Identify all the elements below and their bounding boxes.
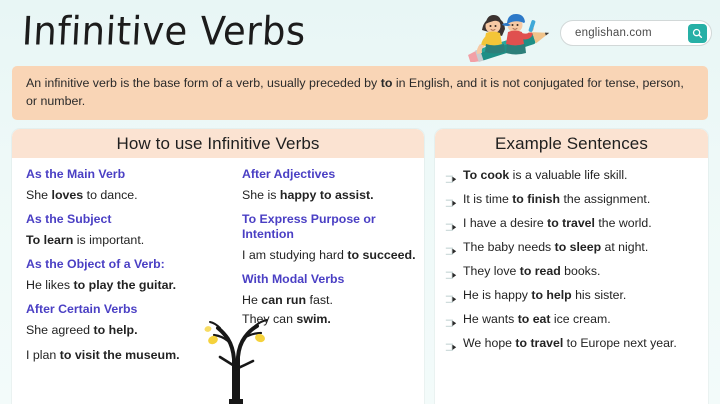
two-kids-riding-pencil-icon	[460, 4, 556, 62]
arrow-bullet-icon	[445, 171, 457, 180]
text-post: his sister.	[572, 288, 627, 302]
panel-how-header-text: How to use Infinitive Verbs	[116, 134, 319, 154]
list-item: I have a desire to travel the world.	[445, 215, 700, 231]
text-pre: He wants	[463, 312, 518, 326]
content-panels: How to use Infinitive Verbs	[12, 129, 708, 404]
example-modal-verbs-2: They can swim.	[242, 311, 424, 327]
how-to-columns: As the Main Verb She loves to dance. As …	[12, 158, 424, 404]
example-subject: To learn is important.	[26, 232, 238, 248]
example-object-of-verb: He likes to play the guitar.	[26, 277, 238, 293]
text-pre: She agreed	[26, 323, 94, 337]
text-bold: to read	[520, 264, 561, 278]
text-pre: They love	[463, 264, 520, 278]
how-column-1: As the Main Verb She loves to dance. As …	[12, 167, 238, 404]
text-bold: to travel	[547, 216, 595, 230]
page-title: Infinitive Verbs	[21, 11, 307, 53]
subheading-modal-verbs: With Modal Verbs	[242, 272, 424, 287]
example-after-adjectives: She is happy to assist.	[242, 187, 424, 203]
text-bold: to eat	[518, 312, 551, 326]
text-pre: The baby needs	[463, 240, 555, 254]
list-item: He is happy to help his sister.	[445, 287, 700, 303]
arrow-bullet-icon	[445, 315, 457, 324]
text-pre: We hope	[463, 336, 515, 350]
text-pre: She	[26, 188, 52, 202]
text-pre: It is time	[463, 192, 512, 206]
text-post: ice cream.	[550, 312, 610, 326]
subheading-object-of-verb: As the Object of a Verb:	[26, 257, 238, 272]
panel-how-header: How to use Infinitive Verbs	[12, 129, 424, 158]
arrow-bullet-icon	[445, 339, 457, 348]
text-bold: to sleep	[555, 240, 601, 254]
search-icon[interactable]	[688, 24, 707, 43]
text-pre: I plan	[26, 348, 60, 362]
list-item-text: It is time to finish the assignment.	[463, 191, 650, 207]
panel-how-body: As the Main Verb She loves to dance. As …	[12, 158, 424, 404]
text-bold: to finish	[512, 192, 560, 206]
text-post: is a valuable life skill.	[509, 168, 627, 182]
text-bold: swim.	[296, 312, 330, 326]
text-post: at night.	[601, 240, 648, 254]
infographic-page: Infinitive Verbs	[0, 0, 720, 404]
text-bold: loves	[52, 188, 84, 202]
text-bold: To cook	[463, 168, 509, 182]
arrow-bullet-icon	[445, 243, 457, 252]
text-post: to dance.	[83, 188, 137, 202]
text-post: books.	[561, 264, 601, 278]
text-pre: He is happy	[463, 288, 531, 302]
example-after-certain-verbs-2: I plan to visit the museum.	[26, 347, 238, 363]
text-pre: She is	[242, 188, 280, 202]
example-modal-verbs-1: He can run fast.	[242, 292, 424, 308]
text-pre: They can	[242, 312, 296, 326]
page-header: Infinitive Verbs	[0, 0, 720, 64]
list-item-text: We hope to travel to Europe next year.	[463, 335, 677, 351]
text-pre: I am studying hard	[242, 248, 347, 262]
list-item-text: To cook is a valuable life skill.	[463, 167, 627, 183]
arrow-bullet-icon	[445, 291, 457, 300]
text-bold: to help.	[94, 323, 138, 337]
arrow-bullet-icon	[445, 219, 457, 228]
text-bold: to succeed.	[347, 248, 415, 262]
text-pre: I have a desire	[463, 216, 547, 230]
text-bold: happy to assist.	[280, 188, 374, 202]
text-pre: He	[242, 293, 261, 307]
list-item: It is time to finish the assignment.	[445, 191, 700, 207]
panel-example-sentences: Example Sentences To cook is a valuable …	[435, 129, 708, 404]
list-item: They love to read books.	[445, 263, 700, 279]
example-express-purpose: I am studying hard to succeed.	[242, 247, 424, 263]
list-item-text: I have a desire to travel the world.	[463, 215, 652, 231]
text-bold: to play the guitar.	[74, 278, 177, 292]
text-bold: to help	[531, 288, 571, 302]
example-after-certain-verbs-1: She agreed to help.	[26, 322, 238, 338]
text-bold: To learn	[26, 233, 73, 247]
text-bold: to travel	[515, 336, 563, 350]
text-pre: He likes	[26, 278, 74, 292]
list-item: The baby needs to sleep at night.	[445, 239, 700, 255]
list-item-text: He is happy to help his sister.	[463, 287, 626, 303]
example-sentences-list: To cook is a valuable life skill. It is …	[435, 158, 708, 351]
list-item-text: The baby needs to sleep at night.	[463, 239, 648, 255]
arrow-bullet-icon	[445, 267, 457, 276]
text-post: fast.	[306, 293, 333, 307]
text-post: the assignment.	[560, 192, 650, 206]
panel-how-to-use: How to use Infinitive Verbs	[12, 129, 424, 404]
intro-callout: An infinitive verb is the base form of a…	[12, 66, 708, 120]
panel-examples-body: To cook is a valuable life skill. It is …	[435, 158, 708, 404]
subheading-after-adjectives: After Adjectives	[242, 167, 424, 182]
subheading-main-verb: As the Main Verb	[26, 167, 238, 182]
text-post: the world.	[595, 216, 652, 230]
text-post: is important.	[73, 233, 144, 247]
list-item: To cook is a valuable life skill.	[445, 167, 700, 183]
brand-search-pill[interactable]: englishan.com	[560, 20, 712, 46]
panel-examples-header-text: Example Sentences	[495, 134, 648, 154]
intro-part1: An infinitive verb is the base form of a…	[26, 76, 381, 90]
arrow-bullet-icon	[445, 195, 457, 204]
list-item-text: They love to read books.	[463, 263, 600, 279]
brand-text: englishan.com	[575, 27, 652, 39]
text-bold: can run	[261, 293, 306, 307]
list-item: He wants to eat ice cream.	[445, 311, 700, 327]
intro-bold-to: to	[381, 76, 393, 90]
list-item-text: He wants to eat ice cream.	[463, 311, 611, 327]
panel-examples-header: Example Sentences	[435, 129, 708, 158]
subheading-subject: As the Subject	[26, 212, 238, 227]
intro-text: An infinitive verb is the base form of a…	[26, 75, 694, 110]
text-post: to Europe next year.	[563, 336, 676, 350]
brand-area: englishan.com	[460, 4, 712, 62]
example-main-verb: She loves to dance.	[26, 187, 238, 203]
text-bold: to visit the museum.	[60, 348, 180, 362]
list-item: We hope to travel to Europe next year.	[445, 335, 700, 351]
subheading-express-purpose: To Express Purpose or Intention	[242, 212, 424, 242]
how-column-2: After Adjectives She is happy to assist.…	[238, 167, 424, 404]
subheading-after-certain-verbs: After Certain Verbs	[26, 302, 238, 317]
